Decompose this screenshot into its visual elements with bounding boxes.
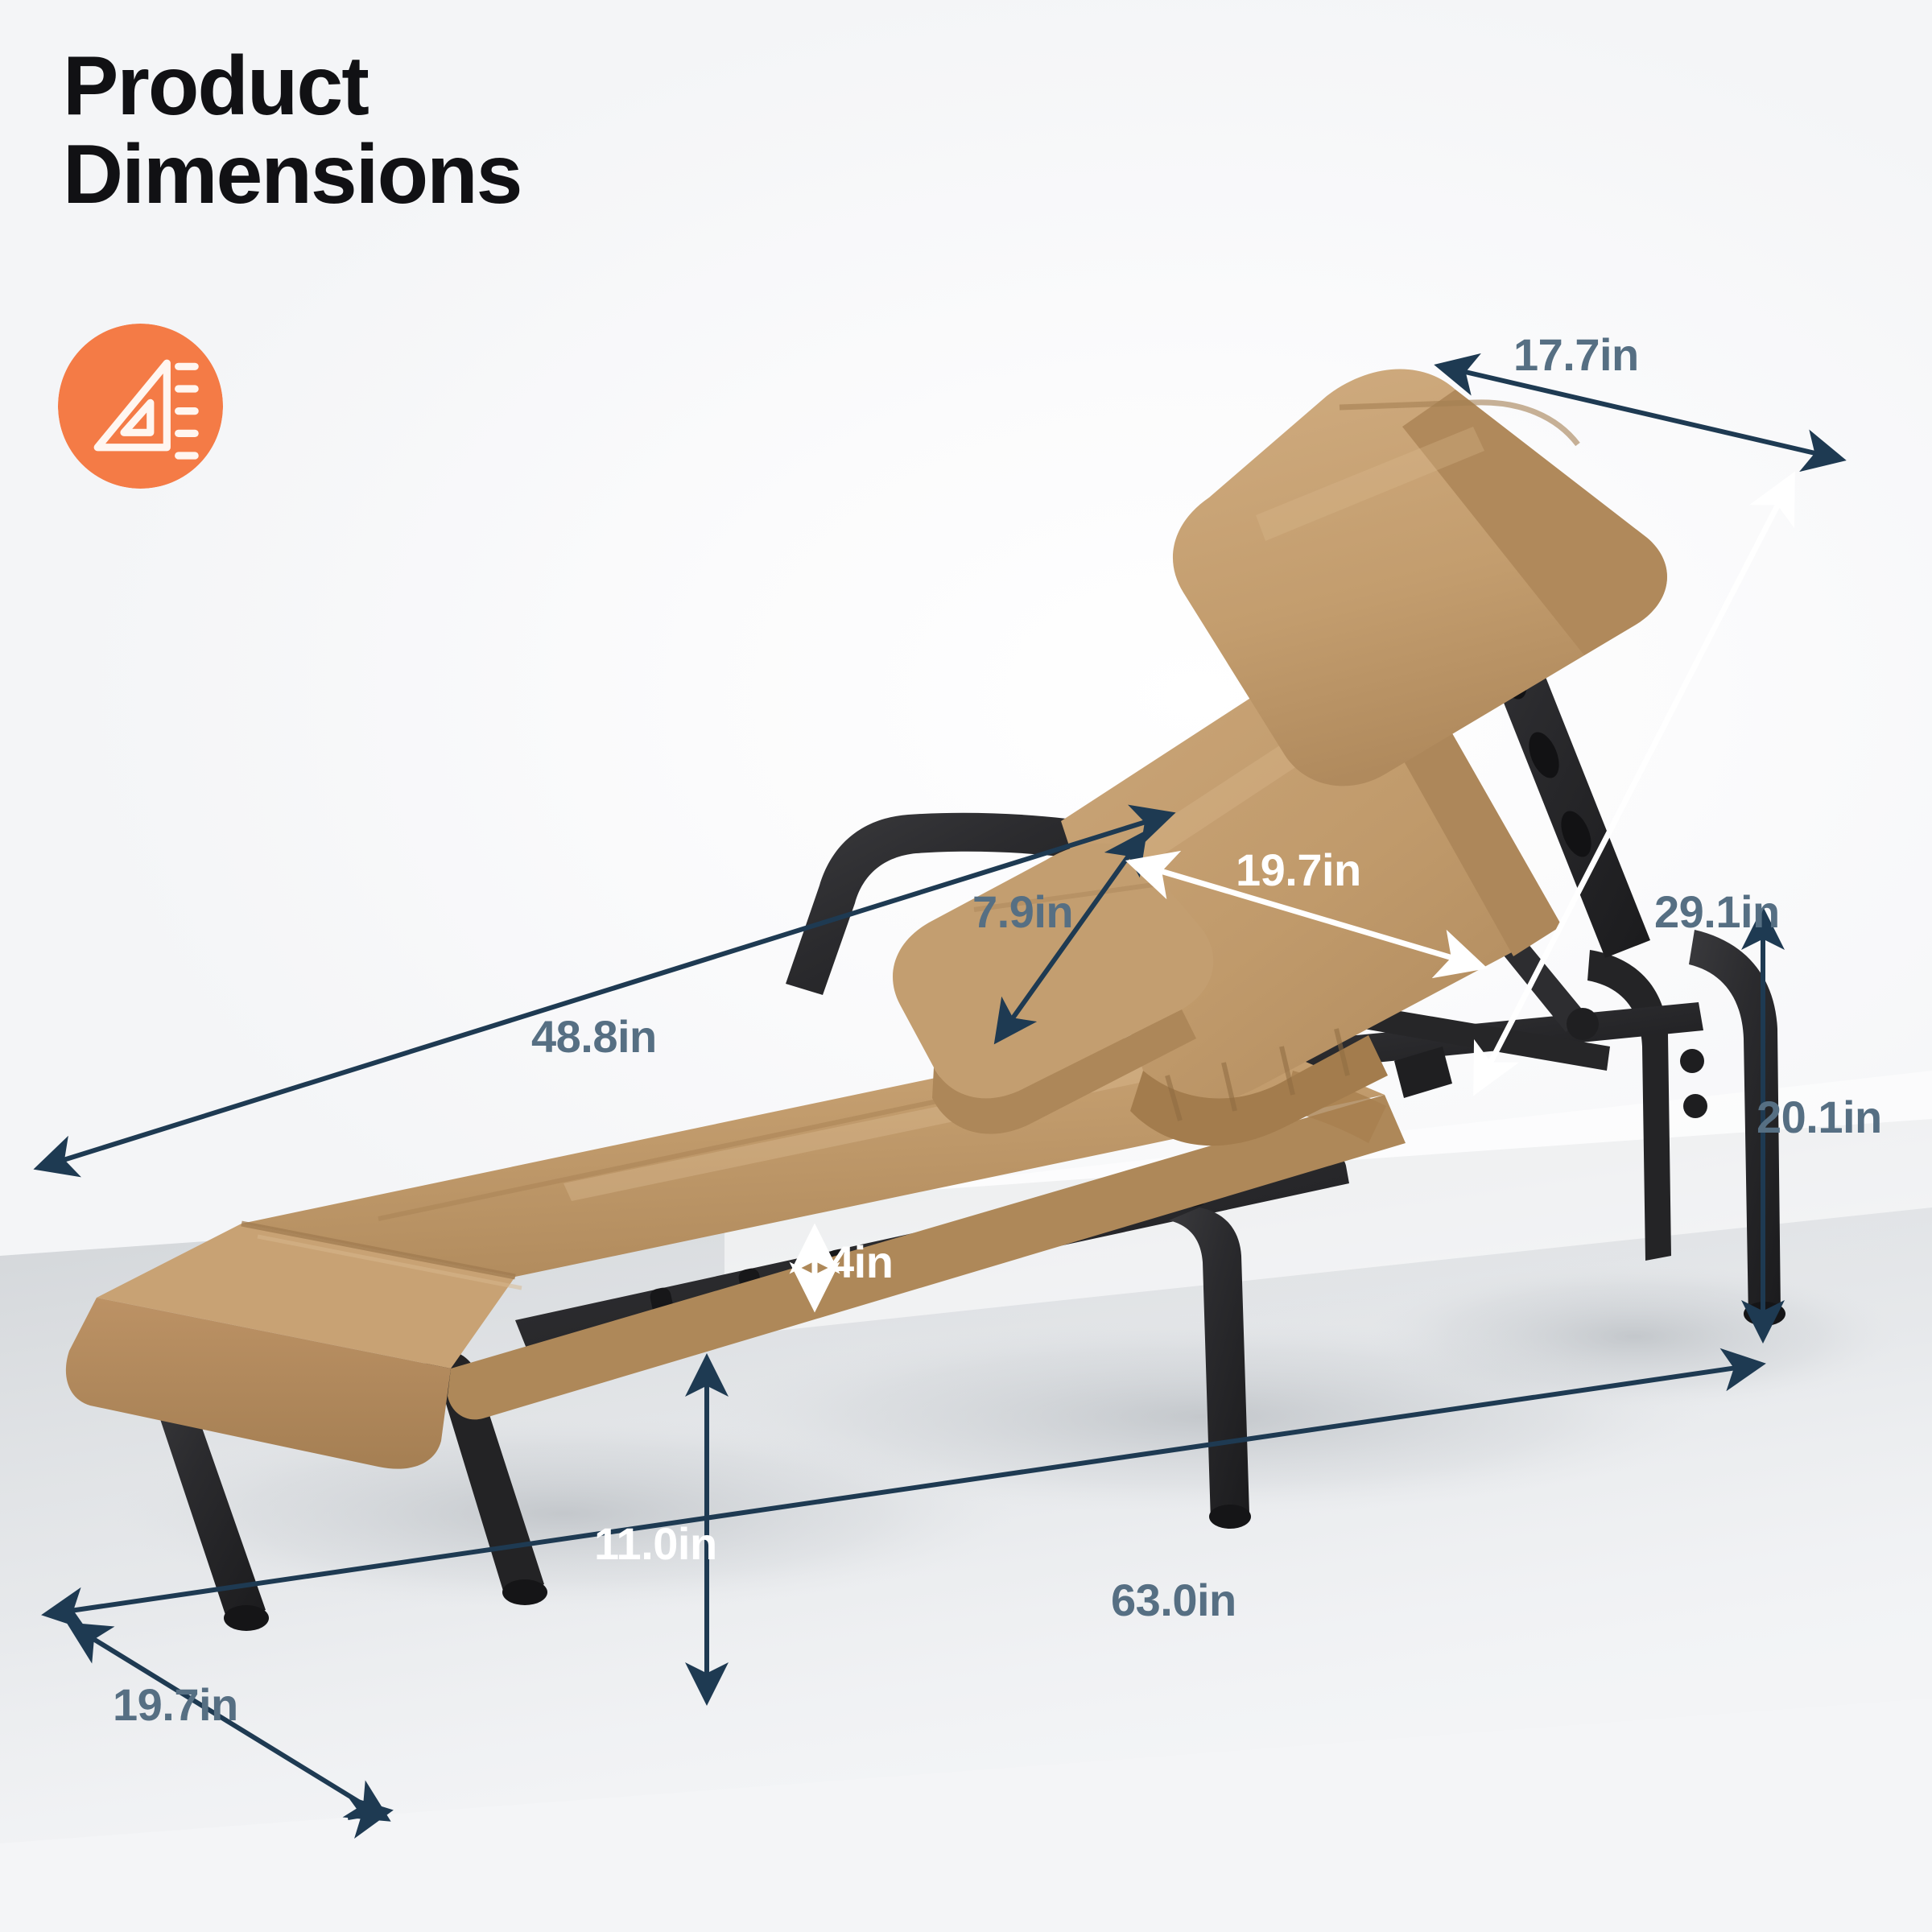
- dim-label-seat-width: 19.7in: [1236, 844, 1361, 896]
- badge-circle: [58, 324, 223, 489]
- page-title: Product Dimensions: [63, 42, 868, 219]
- dim-label-front-seat-height: 11.0in: [594, 1517, 717, 1570]
- product-illustration: [0, 0, 1932, 1932]
- dim-label-back-leg-height: 20.1in: [1757, 1091, 1882, 1143]
- dim-label-backrest-length: 29.1in: [1654, 885, 1780, 938]
- dim-label-headrest-width: 17.7in: [1513, 328, 1639, 381]
- ruler-triangle-icon: [58, 324, 223, 489]
- dim-label-cushion-thickness: 4in: [829, 1236, 893, 1288]
- infographic-canvas: Product Dimensions 17.7in 29.1in 19.7in …: [0, 0, 1932, 1932]
- dim-label-armrest-height: 7.9in: [972, 885, 1073, 938]
- dim-label-seat-length: 48.8in: [531, 1010, 657, 1063]
- dim-label-overall-depth: 19.7in: [113, 1678, 238, 1731]
- dim-label-overall-length: 63.0in: [1111, 1574, 1236, 1626]
